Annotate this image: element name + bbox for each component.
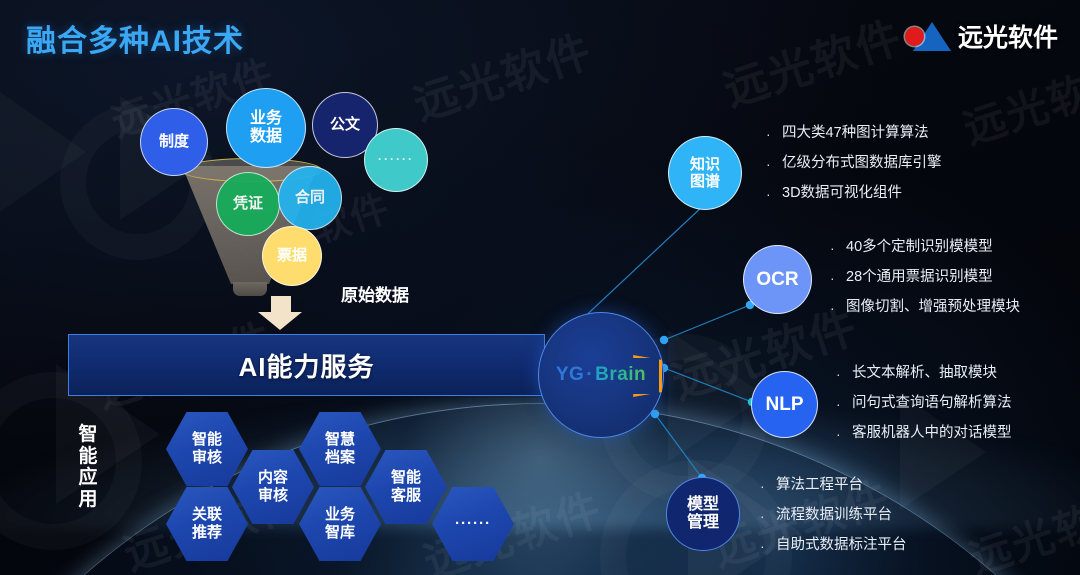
yg-brain-separator: · — [586, 364, 593, 386]
hexagon-label: 智慧档案 — [325, 431, 355, 466]
hexagon-label: 内容审核 — [258, 469, 288, 504]
data-bubble-凭证[interactable]: 凭证 — [216, 172, 280, 236]
bullet-item: ·28个通用票据识别模型 — [830, 270, 1020, 286]
bullet-item: ·四大类47种图计算算法 — [766, 126, 942, 142]
capability-bullets-nlp: ·长文本解析、抽取模块 ·问句式查询语句解析算法 ·客服机器人中的对话模型 — [836, 366, 1012, 456]
brand-logo: 远光软件 — [905, 18, 1058, 54]
data-bubble-票据[interactable]: 票据 — [262, 226, 322, 286]
bubble-label: 公文 — [330, 117, 360, 134]
capability-node-label: 模型管理 — [687, 496, 719, 532]
capability-node-nlp[interactable]: NLP — [751, 371, 818, 438]
bullet-item: ·客服机器人中的对话模型 — [836, 426, 1012, 442]
bullet-item: ·长文本解析、抽取模块 — [836, 366, 1012, 382]
bullet-item: ·40多个定制识别模模型 — [830, 240, 1020, 256]
funnel-stem — [233, 282, 267, 296]
ai-capability-bar[interactable]: AI能力服务 — [68, 334, 545, 396]
bubble-label: 合同 — [295, 190, 325, 207]
bullet-item: ·3D数据可视化组件 — [766, 186, 942, 202]
bubble-label: 制度 — [159, 134, 189, 151]
bullet-item: ·图像切割、增强预处理模块 — [830, 300, 1020, 316]
hexagon-label: ······ — [455, 515, 491, 533]
slide-canvas: 远光软件 远光软件 远光软件 远光软件 远光软件 远光软件 远光软件 远光软件 … — [0, 0, 1080, 575]
capability-bullets-ocr: ·40多个定制识别模模型 ·28个通用票据识别模型 ·图像切割、增强预处理模块 — [830, 240, 1020, 330]
capability-node-label: NLP — [766, 394, 804, 416]
capability-node-label: 知识图谱 — [690, 156, 720, 190]
applications-label: 智能应用 — [73, 424, 103, 511]
flow-arrow-head-icon — [258, 312, 302, 330]
bubble-label: 业务 数据 — [250, 110, 282, 146]
data-bubble-合同[interactable]: 合同 — [278, 166, 342, 230]
hexagon-label: 业务智库 — [325, 506, 355, 541]
logo-mark-icon — [905, 20, 951, 52]
hexagon-label: 智能审核 — [192, 431, 222, 466]
data-bubble-制度[interactable]: 制度 — [140, 108, 208, 176]
capability-node-knowledge-graph[interactable]: 知识图谱 — [668, 136, 742, 210]
hexagon-label: 智能客服 — [391, 469, 421, 504]
logo-circle-icon — [905, 27, 924, 46]
ai-capability-bar-label: AI能力服务 — [238, 347, 374, 384]
bubble-label: 凭证 — [233, 196, 263, 213]
yg-brain-node[interactable]: YG · Brain — [538, 312, 664, 438]
yg-brain-logo: YG · Brain — [556, 364, 646, 386]
bubble-label: ······ — [378, 153, 414, 166]
capability-node-label: OCR — [756, 269, 798, 291]
raw-data-label: 原始数据 — [341, 281, 409, 306]
decor-triangle-5 — [0, 92, 86, 212]
data-bubble-业务数据[interactable]: 业务 数据 — [226, 88, 306, 168]
hexagon-label: 关联推荐 — [192, 506, 222, 541]
bullet-item: ·问句式查询语句解析算法 — [836, 396, 1012, 412]
bullet-item: ·自助式数据标注平台 — [760, 538, 907, 554]
data-bubble-ellipsis[interactable]: ······ — [364, 128, 428, 192]
capability-node-ocr[interactable]: OCR — [743, 245, 812, 314]
capability-node-model-management[interactable]: 模型管理 — [666, 477, 740, 551]
bubble-label: 票据 — [277, 248, 307, 265]
bullet-item: ·亿级分布式图数据库引擎 — [766, 156, 942, 172]
yg-brain-prefix: YG — [556, 364, 584, 386]
orange-bracket-icon — [633, 355, 662, 397]
capability-bullets-knowledge-graph: ·四大类47种图计算算法 ·亿级分布式图数据库引擎 ·3D数据可视化组件 — [766, 126, 942, 216]
logo-text: 远光软件 — [958, 18, 1058, 54]
bullet-item: ·算法工程平台 — [760, 478, 907, 494]
capability-bullets-model-management: ·算法工程平台 ·流程数据训练平台 ·自助式数据标注平台 — [760, 478, 907, 568]
bullet-item: ·流程数据训练平台 — [760, 508, 907, 524]
page-title: 融合多种AI技术 — [26, 16, 244, 60]
